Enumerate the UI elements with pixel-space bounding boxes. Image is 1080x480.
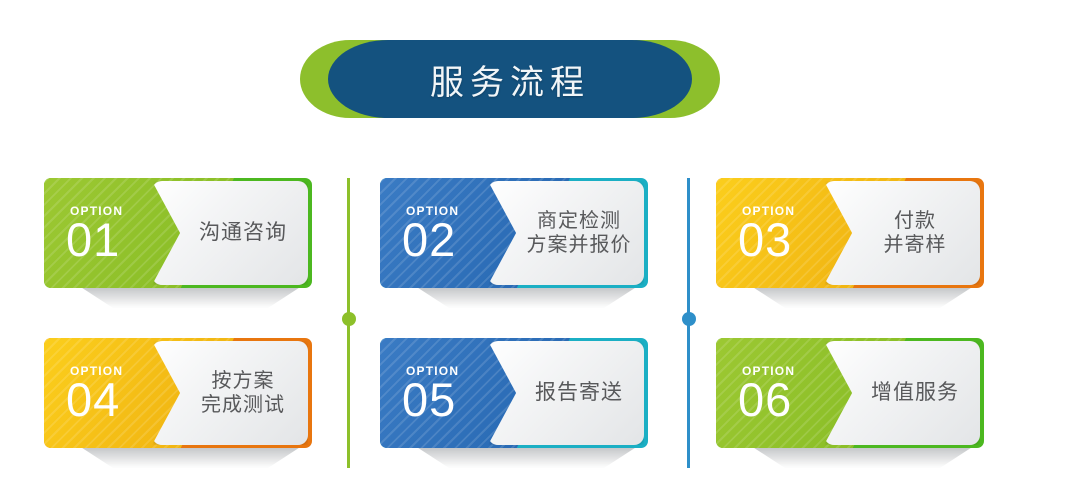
step-number: 05: [402, 376, 456, 423]
process-step-card-03[interactable]: OPTION 03 付款 并寄样: [716, 178, 984, 288]
header-banner: 服务流程: [300, 40, 720, 118]
page-title: 服务流程: [300, 40, 720, 118]
step-title: 按方案 完成测试: [201, 369, 285, 418]
process-step-card-01[interactable]: OPTION 01 沟通咨询: [44, 178, 312, 288]
step-title: 增值服务: [871, 380, 959, 406]
step-number: 04: [66, 376, 120, 423]
step-number: 01: [66, 216, 120, 263]
step-title: 商定检测 方案并报价: [527, 209, 632, 258]
process-steps-grid: OPTION 01 沟通咨询 OPTION 02 商定检测 方案并报价 OPTI…: [0, 170, 1080, 470]
step-number: 02: [402, 216, 456, 263]
process-step-card-04[interactable]: OPTION 04 按方案 完成测试: [44, 338, 312, 448]
process-step-card-06[interactable]: OPTION 06 增值服务: [716, 338, 984, 448]
process-step-card-05[interactable]: OPTION 05 报告寄送: [380, 338, 648, 448]
step-number: 06: [738, 376, 792, 423]
process-step-card-02[interactable]: OPTION 02 商定检测 方案并报价: [380, 178, 648, 288]
column-divider-2: [687, 178, 690, 468]
step-title: 报告寄送: [535, 380, 623, 406]
step-title: 沟通咨询: [199, 220, 287, 246]
column-divider-1: [347, 178, 350, 468]
step-number: 03: [738, 216, 792, 263]
step-title: 付款 并寄样: [884, 209, 947, 258]
divider-dot-icon: [682, 312, 696, 326]
divider-dot-icon: [342, 312, 356, 326]
